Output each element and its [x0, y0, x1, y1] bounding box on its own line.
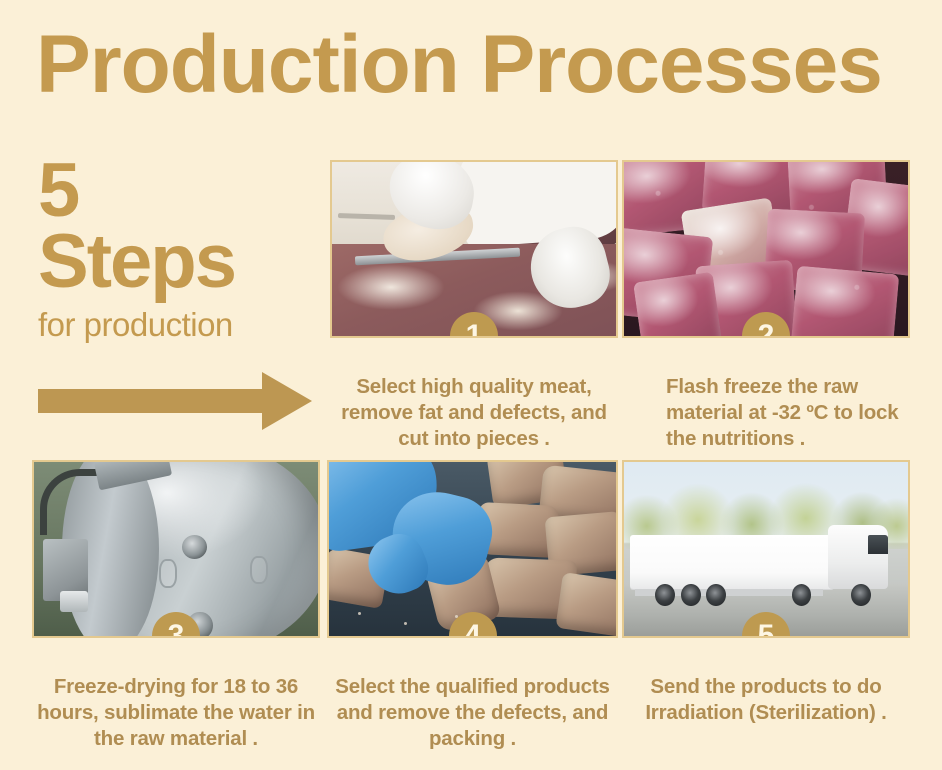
step-caption-5: Send the products to do Irradiation (Ste…	[622, 674, 910, 726]
step-caption-1: Select high quality meat, remove fat and…	[330, 374, 618, 452]
page-title: Production Processes	[36, 10, 882, 120]
step-card-5: 5 Send the products to do Irradiation (S…	[622, 460, 910, 726]
step-caption-3: Freeze-drying for 18 to 36 hours, sublim…	[32, 674, 320, 752]
intro-subtitle: for production	[38, 304, 318, 346]
intro-block: 5 Steps for production	[38, 160, 318, 346]
step-image-1: 1	[330, 160, 618, 338]
step-image-2: 2	[622, 160, 910, 338]
step-card-4: 4 Select the qualified products and remo…	[327, 460, 618, 752]
refrigerated-truck-scene	[624, 462, 908, 636]
step-caption-4: Select the qualified products and remove…	[327, 674, 618, 752]
arrow-right-icon	[38, 370, 312, 432]
step-count-label: Steps	[38, 222, 318, 302]
sorting-dried-meat-scene	[329, 462, 616, 636]
step-image-5: 5	[622, 460, 910, 638]
step-image-4: 4	[327, 460, 618, 638]
frozen-cubes-scene	[624, 162, 908, 336]
step-card-1: 1 Select high quality meat, remove fat a…	[330, 160, 618, 452]
meat-trimming-scene	[332, 162, 616, 336]
step-count-number: 5	[38, 160, 318, 222]
freeze-dryer-scene	[34, 462, 318, 636]
step-image-3: 3	[32, 460, 320, 638]
step-card-2: 2 Flash freeze the raw material at -32 º…	[622, 160, 910, 452]
step-caption-2: Flash freeze the raw material at -32 ºC …	[622, 374, 910, 452]
step-card-3: 3 Freeze-drying for 18 to 36 hours, subl…	[32, 460, 320, 752]
infographic-page: Production Processes 5 Steps for product…	[0, 0, 942, 770]
